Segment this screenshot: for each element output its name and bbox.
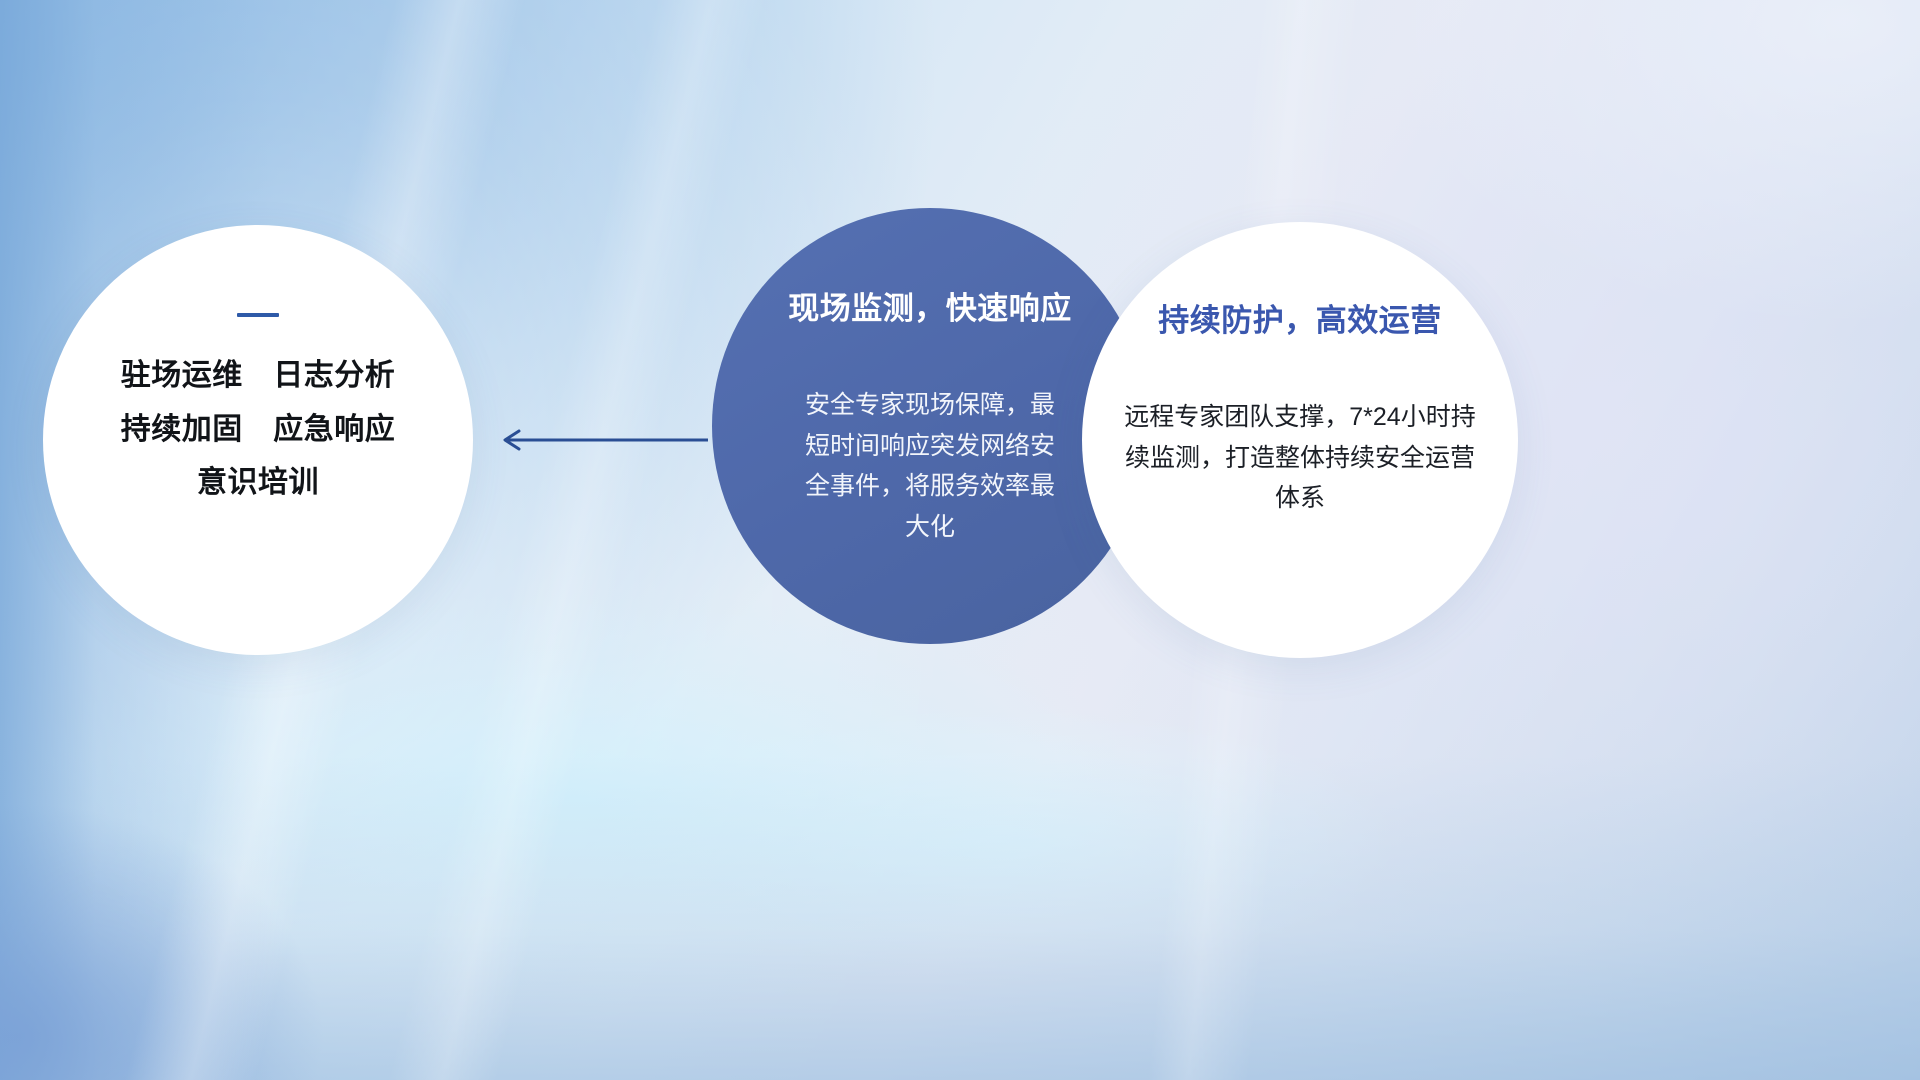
divider-dash-icon [237,313,279,317]
left-services-circle: 驻场运维 日志分析 持续加固 应急响应 意识培训 [43,225,473,655]
middle-circle-body: 安全专家现场保障，最短时间响应突发网络安全事件，将服务效率最大化 [799,385,1061,547]
right-circle-heading: 持续防护，高效运营 [1158,302,1442,339]
right-continuous-circle: 持续防护，高效运营 远程专家团队支撑，7*24小时持续监测，打造整体持续安全运营… [1082,222,1518,658]
arrow-left-icon [495,424,709,456]
list-item: 持续加固 应急响应 [121,413,396,448]
list-item: 驻场运维 日志分析 [121,359,396,394]
left-circle-content: 驻场运维 日志分析 持续加固 应急响应 意识培训 [43,225,473,655]
right-circle-body: 远程专家团队支撑，7*24小时持续监测，打造整体持续安全运营体系 [1122,397,1478,519]
list-item: 意识培训 [121,466,396,501]
slide-canvas: 驻场运维 日志分析 持续加固 应急响应 意识培训 现场监测，快速响应 安全专家现… [0,0,1920,1080]
left-services-list: 驻场运维 日志分析 持续加固 应急响应 意识培训 [121,359,396,501]
middle-circle-heading: 现场监测，快速响应 [788,290,1072,327]
right-circle-content: 持续防护，高效运营 远程专家团队支撑，7*24小时持续监测，打造整体持续安全运营… [1082,222,1518,658]
